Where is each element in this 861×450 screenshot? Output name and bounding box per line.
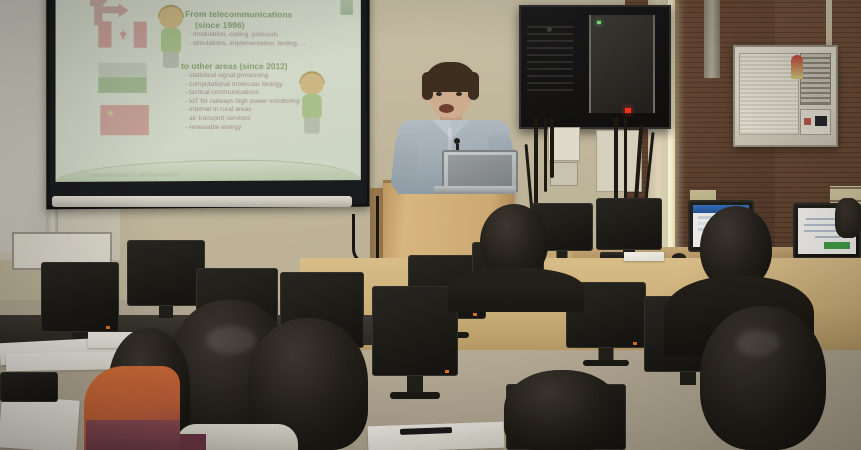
slide-section1-bullets: modulation, coding, protocols simulation…	[189, 31, 306, 49]
student-shoulders-center	[448, 268, 584, 312]
bullet: statistical signal processing	[185, 72, 299, 81]
monitor-front-1[interactable]	[41, 262, 119, 332]
ac-display	[815, 116, 827, 126]
screen-bottom-bar	[52, 196, 352, 207]
podium-laptop-screen	[448, 155, 512, 187]
university-logo	[340, 0, 353, 15]
slide-footer-url: www.swansea.ac.uk/engineering	[90, 172, 178, 179]
slide-section1-heading: From telecommunications	[185, 9, 292, 20]
lecture-room-photo: About me From telecommunications (since …	[0, 0, 861, 450]
slide-section2-bullets: statistical signal processing computatio…	[185, 72, 299, 132]
ac-front-grille	[739, 53, 799, 135]
student-shirt-orange-lower	[86, 420, 180, 450]
spiral-notebook	[368, 422, 505, 450]
ac-power-button[interactable]	[804, 118, 811, 125]
hair-highlight-left	[206, 326, 256, 354]
bullet: computational molecular biology	[185, 81, 299, 90]
bullet: simulations, implementation, testing, ..…	[189, 39, 306, 48]
paper-back-desk	[624, 252, 664, 261]
bullet: Internet in rural areas	[185, 106, 299, 115]
ac-side-vent	[800, 53, 831, 105]
monitor-front-5[interactable]	[372, 286, 458, 376]
cabinet-status-led-red	[625, 108, 631, 113]
projection-screen: About me From telecommunications (since …	[46, 0, 369, 209]
presentation-slide: About me From telecommunications (since …	[56, 0, 361, 182]
cabinet-glass-door	[589, 15, 655, 113]
network-cabinet	[519, 5, 671, 129]
presenter-mouth	[439, 104, 454, 113]
air-conditioner	[733, 45, 838, 147]
cabinet-status-led-green	[597, 21, 601, 24]
canada-flag-icon	[98, 21, 147, 47]
presenter-eye-left	[436, 92, 442, 96]
bullet: IoT for railways high power monitoring	[185, 98, 299, 107]
cartoon-character-bottom	[294, 73, 329, 135]
cabinet-knob	[547, 27, 552, 32]
ac-decoration	[791, 55, 803, 79]
bullet: modulation, coding, protocols	[189, 31, 306, 40]
presenter-hair	[424, 62, 477, 92]
student-head-right-foreground	[700, 306, 826, 450]
bullet: renewable energy	[185, 123, 299, 132]
monitor-front-2[interactable]	[127, 240, 205, 306]
bullet: tactical communications	[185, 89, 299, 98]
wales-flag-icon	[98, 63, 147, 93]
wall-duct	[704, 0, 720, 78]
student-head-far-right	[835, 198, 861, 238]
hair-highlight-right	[736, 330, 780, 356]
china-flag-icon	[100, 105, 149, 135]
bullet: air-transport services	[185, 115, 299, 124]
ac-control-panel[interactable]	[800, 109, 831, 135]
whiteboard	[0, 0, 49, 252]
student-head-center-foreground	[504, 370, 620, 450]
podium-laptop-base[interactable]	[434, 186, 516, 194]
notebook-left	[0, 395, 80, 450]
cartoon-character-top	[153, 7, 189, 69]
monitor-back-1[interactable]	[596, 198, 662, 250]
slide-section2-heading: to other areas (since 2012)	[181, 61, 288, 71]
slide-section1-subheading: (since 1996)	[195, 20, 245, 30]
presenter-eye-right	[456, 92, 462, 96]
monitor-front-8[interactable]	[0, 372, 58, 402]
